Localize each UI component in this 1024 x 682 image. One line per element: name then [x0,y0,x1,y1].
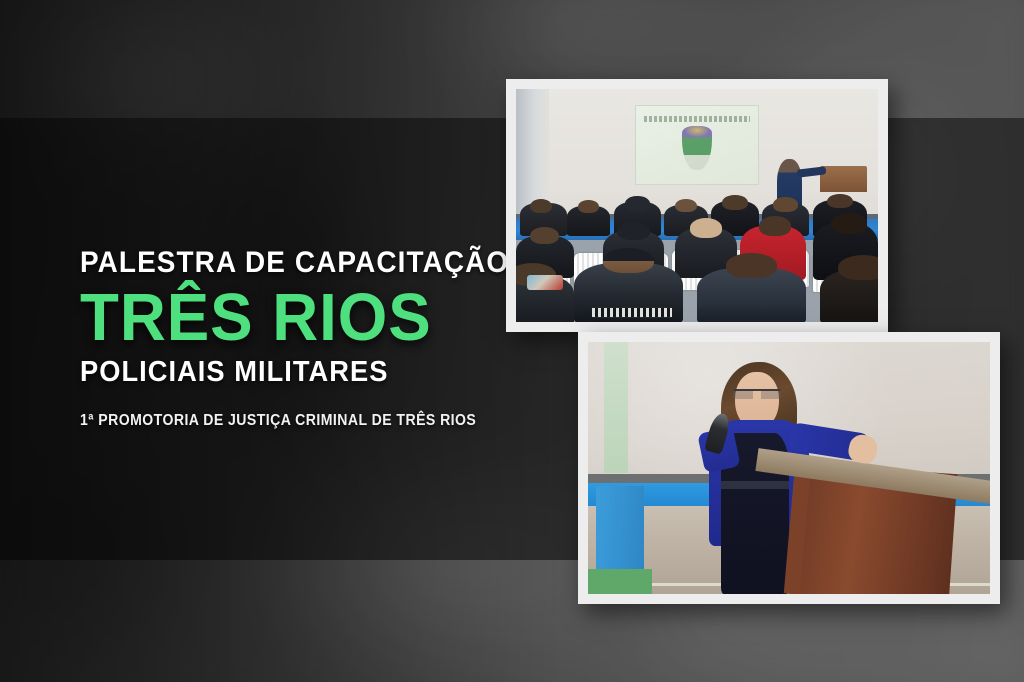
audience-person-head [773,197,798,212]
audience-person-head [625,196,650,211]
speaker-belt [721,481,789,490]
audience-person-head [838,255,878,280]
poster-kicker: PALESTRA DE CAPACITAÇÃO [80,248,471,278]
audience-person-head [530,199,552,214]
audience-person-head [759,216,792,236]
audience-person-head [831,213,867,234]
audience-person-head [578,200,600,214]
green-pillar [604,342,628,473]
police-crest-icon [682,126,711,169]
audience-person-head [690,218,723,238]
audience-person-head [722,195,747,210]
audience-crowd [516,199,878,322]
audience-photo [516,89,878,322]
audience-person-head [675,199,697,213]
poster-subhead: POLICIAIS MILITARES [80,358,475,387]
green-floor-base [588,569,652,594]
poster-text-block: PALESTRA DE CAPACITAÇÃO TRÊS RIOS POLICI… [80,248,500,429]
auditorium-podium [820,166,867,192]
speaker-photo-frame [578,332,1000,604]
audience-person-head [617,222,650,241]
speaker-photo [588,342,990,594]
audience-photo-frame [506,79,888,332]
audience-person-head [530,227,559,244]
glasses-icon [733,389,781,399]
audience-person-head [827,194,852,209]
projection-title-text [644,116,751,121]
poster-footline: 1ª PROMOTORIA DE JUSTIÇA CRIMINAL DE TRÊ… [80,413,450,429]
blue-column [596,486,644,579]
poster-headline: TRÊS RIOS [80,284,479,351]
audience-person-head [726,253,777,278]
police-vest-text [592,308,672,317]
audience-officer-head [603,248,654,273]
projection-screen [635,105,758,184]
poster-canvas: PALESTRA DE CAPACITAÇÃO TRÊS RIOS POLICI… [0,0,1024,682]
police-shoulder-patch [527,275,563,290]
